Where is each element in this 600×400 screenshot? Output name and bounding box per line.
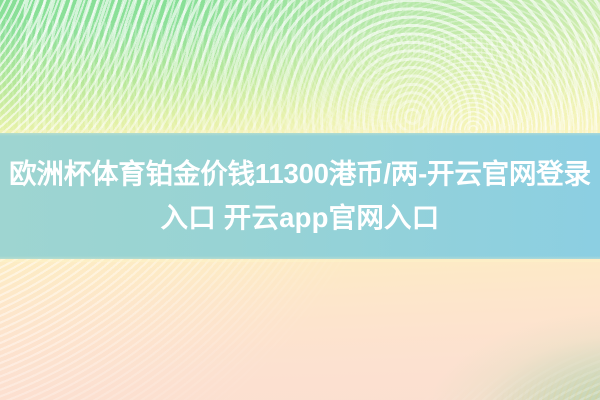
headline-line-2: 入口 开云app官网入口 <box>161 196 440 240</box>
headline-line-1: 欧洲杯体育铂金价钱11300港币/两-开云官网登录 <box>9 152 591 196</box>
promo-banner: 欧洲杯体育铂金价钱11300港币/两-开云官网登录 入口 开云app官网入口 <box>0 0 600 400</box>
headline-block: 欧洲杯体育铂金价钱11300港币/两-开云官网登录 入口 开云app官网入口 <box>0 133 600 259</box>
